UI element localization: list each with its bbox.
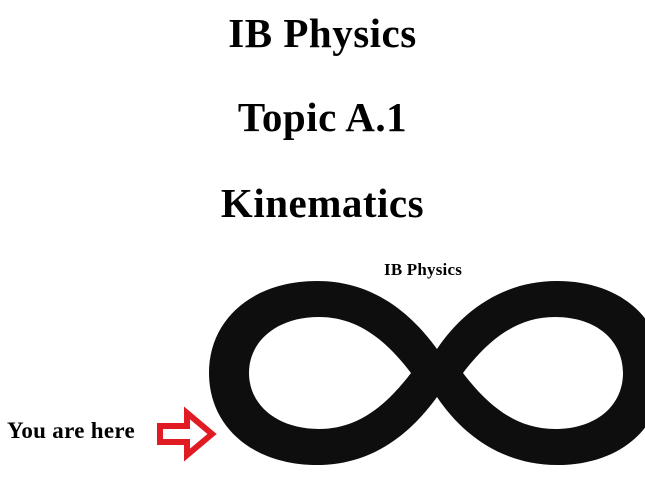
infinity-symbol-icon [205,277,645,469]
page-title-line-2: Topic A.1 [0,97,645,138]
page-title-line-3: Kinematics [0,183,645,224]
logo-group: IB Physics [0,255,645,484]
slide-canvas: IB Physics Topic A.1 Kinematics IB Physi… [0,0,645,484]
right-arrow-icon [155,405,217,463]
logo-caption-label: IB Physics [384,261,462,278]
you-are-here-label: You are here [7,419,135,442]
page-title-line-1: IB Physics [0,13,645,54]
